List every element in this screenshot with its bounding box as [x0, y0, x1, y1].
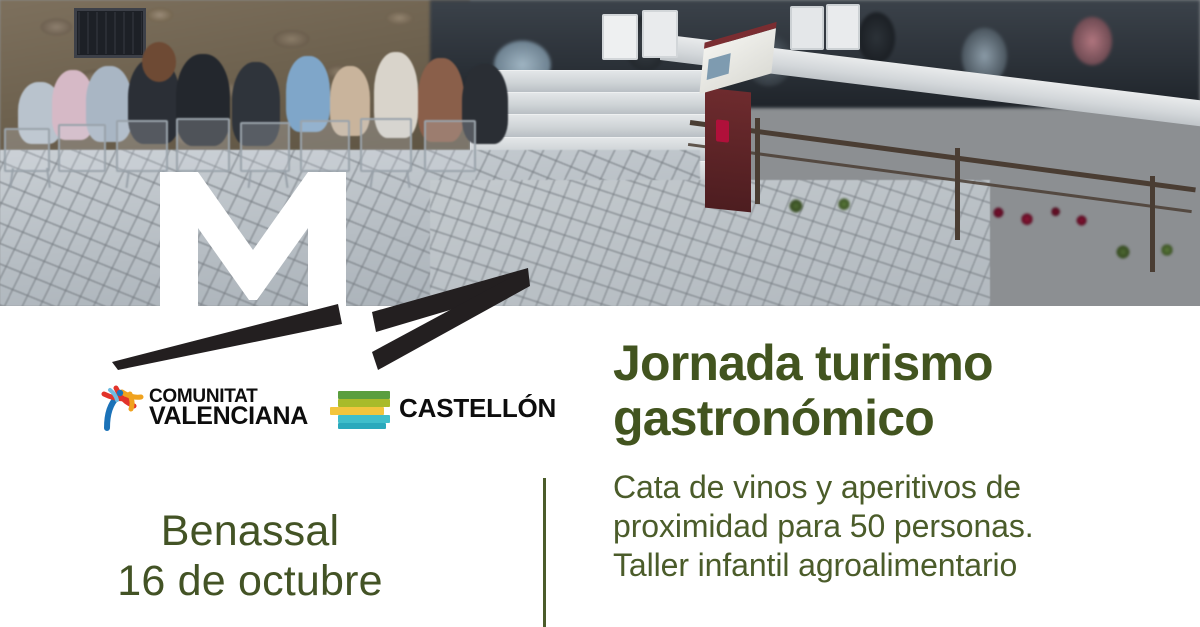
rail-post-1: [755, 118, 760, 204]
red-flowers: [975, 195, 1105, 239]
castellon-wordmark: CASTELLÓN: [399, 393, 556, 424]
rail-post-3: [1150, 176, 1155, 272]
event-title: Jornada turismo gastronómico: [613, 336, 1173, 446]
logo-arrow-icon: [110, 252, 530, 370]
institutional-logos: COMUNITAT VALENCIANA CASTELLÓN: [100, 384, 556, 432]
castellon-bars-icon: [330, 389, 390, 427]
event-date: 16 de octubre: [0, 556, 500, 606]
event-description-line-3: Taller infantil agroalimentario: [613, 546, 1173, 585]
comunitat-valenciana-mark-icon: [100, 384, 144, 432]
logo-comunitat-valenciana: COMUNITAT VALENCIANA: [100, 384, 308, 432]
event-place-date: Benassal 16 de octubre: [0, 506, 500, 607]
comunitat-valenciana-wordmark: COMUNITAT VALENCIANA: [149, 388, 308, 428]
rail-post-2: [955, 148, 960, 240]
info-kiosk-emblem: [716, 119, 729, 142]
event-description: Cata de vinos y aperitivos de proximidad…: [613, 468, 1173, 585]
vertical-divider: [543, 478, 546, 627]
event-details: Jornada turismo gastronómico Cata de vin…: [613, 336, 1173, 585]
plants-left: [760, 188, 880, 224]
info-kiosk-body: [705, 88, 751, 213]
event-title-line-2: gastronómico: [613, 391, 1173, 446]
event-title-line-1: Jornada turismo: [613, 336, 1173, 391]
cv-line-2: VALENCIANA: [149, 405, 308, 428]
event-description-line-1: Cata de vinos y aperitivos de: [613, 468, 1173, 507]
logo-castellon: CASTELLÓN: [330, 389, 556, 427]
seated-audience: [0, 36, 520, 186]
plants-right: [1090, 232, 1200, 272]
poster-root: COMUNITAT VALENCIANA CASTELLÓN Benassal …: [0, 0, 1200, 627]
event-description-line-2: proximidad para 50 personas.: [613, 507, 1173, 546]
event-place: Benassal: [0, 506, 500, 556]
